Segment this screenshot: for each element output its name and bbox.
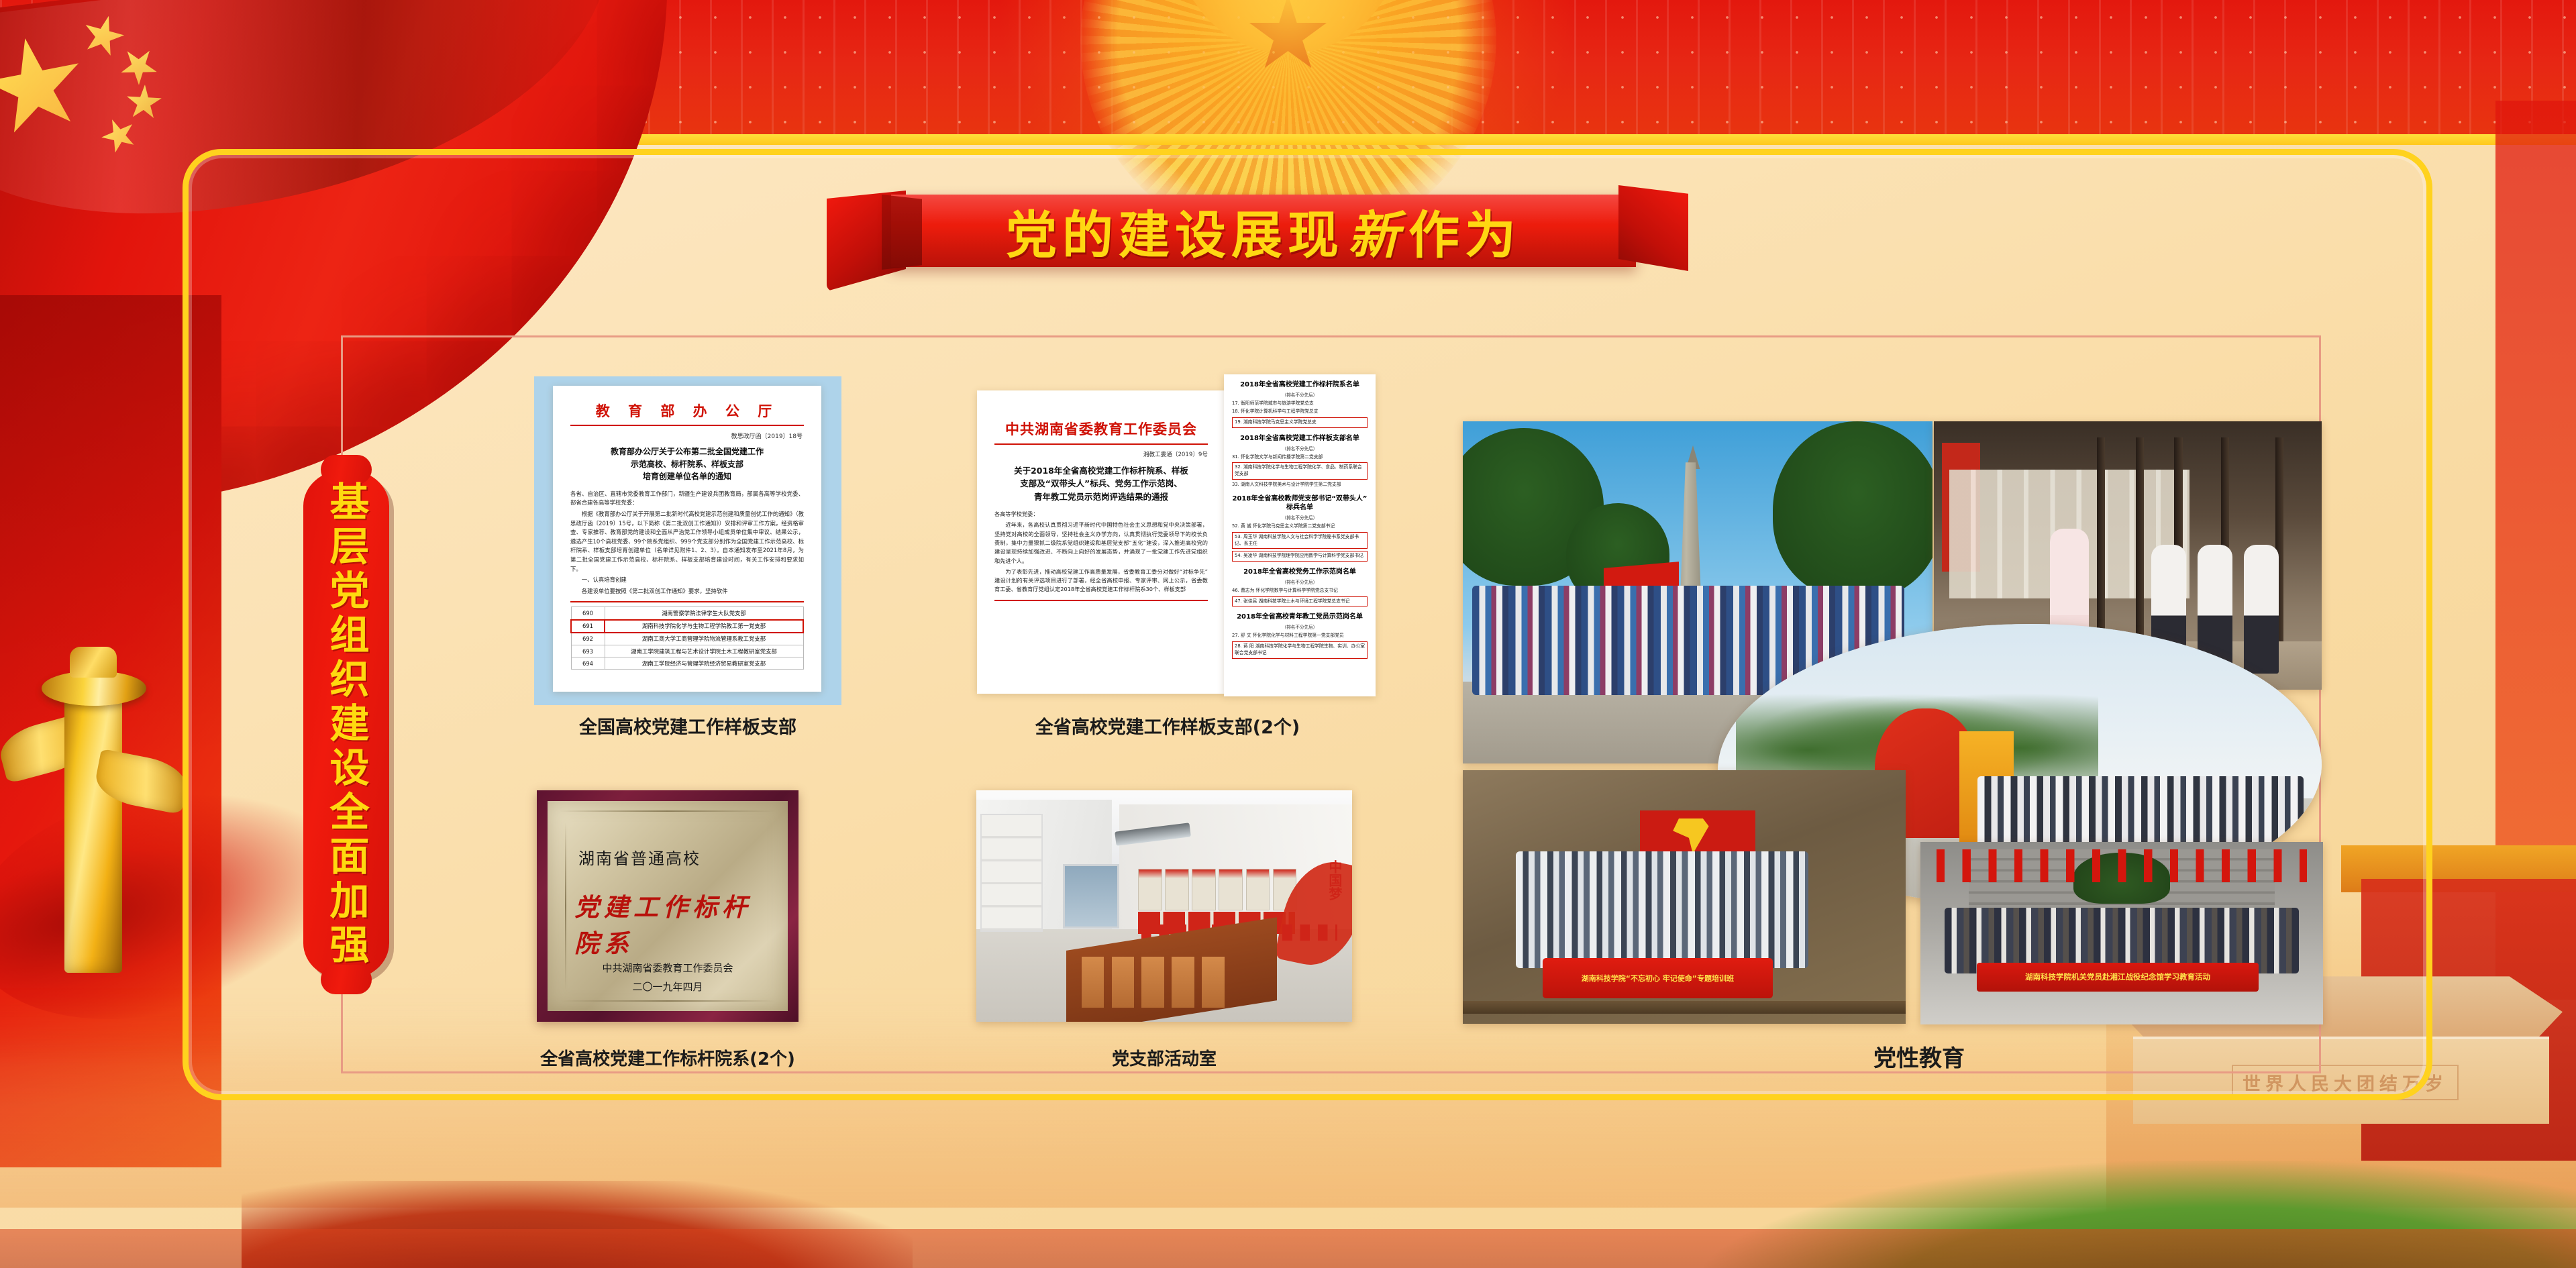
vertical-side-title-text: 基层党组织建设全面加强 xyxy=(327,481,366,968)
pagoda-tree xyxy=(1773,421,1933,599)
banner-title-part1: 党的建设展现 xyxy=(1006,194,1344,268)
document-2-body: 各高等学校党委： 近年来，各高校认真贯彻习近平新时代中国特色社会主义思想和党中央… xyxy=(994,510,1208,594)
list-item-highlighted: 28. 蒋 阳 湖南科技学院化学与生物工程学院生物、实训、办公室联合党支部书记 xyxy=(1232,641,1368,659)
memorial-flag-row xyxy=(1937,849,2307,882)
row-number: 693 xyxy=(571,645,605,657)
document-2-number: 湘教工委通〔2019〕9号 xyxy=(994,450,1208,458)
row-name: 湖南工学院经济与管理学院经济贸易教研室党支部 xyxy=(605,657,803,670)
row-name: 湖南工商大学工商管理学院物流管理系教工党支部 xyxy=(605,633,803,645)
document-card-2: 中共湖南省委教育工作委员会 湘教工委通〔2019〕9号 关于2018年全省高校党… xyxy=(953,374,1382,706)
room-chair xyxy=(1082,957,1104,1008)
row-number: 694 xyxy=(571,657,605,670)
huabiao-pillar-icon xyxy=(12,644,166,993)
document-2-rule xyxy=(994,443,1208,445)
cliff-railing xyxy=(1463,1001,1906,1014)
list-item: 27. 舒 文 怀化学院化学与材料工程学院第一党支部党员 xyxy=(1232,633,1368,639)
caption-document-1: 全国高校党建工作样板支部 xyxy=(544,712,832,739)
mural-portrait xyxy=(1165,869,1189,910)
caption-document-2: 全省高校党建工作样板支部(2个) xyxy=(953,712,1382,739)
cliff-group-banner: 湖南科技学院“不忘初心 牢记使命”专题培训班 xyxy=(1543,958,1773,998)
mural-portrait xyxy=(1192,869,1216,910)
plaque-face: 湖南省普通高校 党建工作标杆院系 中共湖南省委教育工作委员会 二〇一九年四月 xyxy=(548,801,788,1011)
plaque-line-1: 湖南省普通高校 xyxy=(578,845,701,869)
document-2-title: 关于2018年全省高校党建工作标杆院系、样板 支部及“双带头人”标兵、党务工作示… xyxy=(994,464,1208,503)
banner-title: 党的建设展现新作为 xyxy=(891,195,1636,267)
list-item: 17. 衡阳师范学院城市与旅游学院党总支 xyxy=(1232,401,1368,407)
red-star-icon xyxy=(1248,0,1329,75)
document-card-1: 教 育 部 办 公 厅 教思政厅函〔2019〕18号 教育部办公厅关于公布第二批… xyxy=(544,379,832,701)
caption-activity-room: 党支部活动室 xyxy=(976,1045,1352,1070)
document-1-title-line-1: 教育部办公厅关于公布第二批全国党建工作 xyxy=(570,445,804,458)
plaque-line-2: 党建工作标杆院系 xyxy=(574,887,776,959)
list-item-highlighted: 32. 湖南科技学院化学与生物工程学院化学、食品、制药系联合党支部 xyxy=(1232,462,1368,480)
caption-plaque: 全省高校党建工作标杆院系(2个) xyxy=(510,1045,825,1070)
room-notice-boards xyxy=(980,814,1043,933)
room-chair xyxy=(1202,957,1225,1008)
list-heading-5: 2018年全省高校青年教工党员示范岗名单 xyxy=(1231,613,1369,622)
list-subheading-3: （排名不分先后） xyxy=(1224,514,1376,521)
document-1-para-4: 各建设单位要按照《第二批双创工作通知》要求，坚持软件 xyxy=(570,587,804,596)
list-item-highlighted: 53. 周玉华 湖南科技学院人文与社会科学学院秘书系党支部书记、系主任 xyxy=(1232,532,1368,549)
poster-board: 世界人民大团结万岁 党的建设展现新作为 基层党组织建设全面加强 教 育 部 办 … xyxy=(0,0,2576,1268)
document-1-rule xyxy=(570,425,804,426)
table-row: 694 湖南工学院经济与管理学院经济贸易教研室党支部 xyxy=(571,657,803,670)
museum-column xyxy=(2136,437,2145,641)
list-item: 52. 黄 诚 怀化学院马克思主义学院第二党支部书记 xyxy=(1232,523,1368,530)
mural-portrait xyxy=(1219,869,1243,910)
photo-party-branch-activity-room: 中国梦 xyxy=(976,790,1352,1022)
document-1-title-line-3: 培育创建单位名单的通知 xyxy=(570,470,804,483)
banner-title-part2: 作为 xyxy=(1408,194,1521,268)
table-row: 693 湖南工学院建筑工程与艺术设计学院土木工程教研室党支部 xyxy=(571,645,803,657)
document-1-paper: 教 育 部 办 公 厅 教思政厅函〔2019〕18号 教育部办公厅关于公布第二批… xyxy=(553,386,821,692)
document-2-title-line-1: 关于2018年全省高校党建工作标杆院系、样板 xyxy=(994,464,1208,477)
list-subheading-5: （排名不分先后） xyxy=(1224,623,1376,630)
row-number: 690 xyxy=(571,607,605,620)
plaque-line-4: 二〇一九年四月 xyxy=(548,980,788,994)
row-number: 692 xyxy=(571,633,605,645)
document-2-para-1: 各高等学校党委： xyxy=(994,510,1208,519)
vertical-side-title: 基层党组织建设全面加强 xyxy=(303,470,389,980)
cliff-group-people xyxy=(1516,851,1808,968)
document-2-title-line-3: 青年教工党员示范岗评选结果的通报 xyxy=(994,490,1208,503)
document-1-para-2: 根据《教育部办公厅关于开展第二批新时代高校党建示范创建和质量创优工作的通知》（教… xyxy=(570,510,804,574)
row-number: 691 xyxy=(571,620,605,633)
banner-title-accent: 新 xyxy=(1344,194,1408,268)
room-chair xyxy=(1172,957,1194,1008)
bottom-red-strip xyxy=(0,1229,2576,1268)
table-row: 692 湖南工商大学工商管理学院物流管理系教工党支部 xyxy=(571,633,803,645)
table-row-highlighted: 691 湖南科技学院化学与生物工程学院教工第一党支部 xyxy=(571,620,803,633)
list-heading-2: 2018年全省高校党建工作样板支部名单 xyxy=(1231,434,1369,443)
list-item: 18. 怀化学院计算机科学与工程学院党总支 xyxy=(1232,409,1368,415)
list-subheading-2: （排名不分先后） xyxy=(1224,445,1376,452)
list-heading-3: 2018年全省高校教师党支部书记“双带头人”标兵名单 xyxy=(1231,494,1369,513)
list-item: 33. 湖南人文科技学院美术与设计学院学生第二党支部 xyxy=(1232,482,1368,488)
museum-column xyxy=(2097,437,2106,641)
mural-portrait xyxy=(1246,869,1270,910)
photo-training-class-group: 湖南科技学院“不忘初心 牢记使命”专题培训班 xyxy=(1463,770,1906,1024)
document-1-number: 教思政厅函〔2019〕18号 xyxy=(572,431,803,440)
list-item-highlighted: 54. 吴凌华 湖南科技学院理学院应用数学与计算科学党支部书记 xyxy=(1232,551,1368,562)
caption-party-spirit-education: 党性教育 xyxy=(1718,1040,2120,1073)
list-heading-4: 2018年全省高校党务工作示范岗名单 xyxy=(1231,568,1369,577)
main-banner: 党的建设展现新作为 xyxy=(824,180,1690,280)
document-1-name-table: 690 湖南警察学院法律学生大队党支部 691 湖南科技学院化学与生物工程学院教… xyxy=(570,606,804,670)
document-2-left-page: 中共湖南省委教育工作委员会 湘教工委通〔2019〕9号 关于2018年全省高校党… xyxy=(977,390,1225,694)
list-item-highlighted: 47. 张佳民 湖南科技学院土木与环境工程学院党总支书记 xyxy=(1232,596,1368,607)
document-2-para-2: 近年来，各高校认真贯彻习近平新时代中国特色社会主义思想和党中央决策部署，坚持党对… xyxy=(994,521,1208,565)
document-1-header: 教 育 部 办 公 厅 xyxy=(553,401,821,421)
document-2-organization: 中共湖南省委教育工作委员会 xyxy=(985,419,1217,439)
room-chair xyxy=(1141,957,1164,1008)
document-1-title-line-2: 示范高校、标杆院系、样板支部 xyxy=(570,458,804,471)
room-window xyxy=(1063,864,1119,929)
list-item: 31. 怀化学院文学与新闻传播学院第二党支部 xyxy=(1232,454,1368,461)
list-subheading-4: （排名不分先后） xyxy=(1224,578,1376,585)
document-1-rule-2 xyxy=(570,601,804,602)
document-1-para-1: 各省、自治区、直辖市党委教育工作部门，新疆生产建设兵团教育局，部属各高等学校党委… xyxy=(570,490,804,508)
memorial-group-banner: 湖南科技学院机关党员赴湘江战役纪念馆学习教育活动 xyxy=(1977,963,2259,992)
document-2-rule-2 xyxy=(994,600,1208,601)
row-name: 湖南工学院建筑工程与艺术设计学院土木工程教研室党支部 xyxy=(605,645,803,657)
list-item-highlighted: 19. 湖南科技学院马克思主义学院党总支 xyxy=(1232,417,1368,428)
plaque-line-3: 中共湖南省委教育工作委员会 xyxy=(548,961,788,975)
document-2-title-line-2: 支部及“双带头人”标兵、党务工作示范岗、 xyxy=(994,477,1208,490)
document-2-right-page: 2018年全省高校党建工作标杆院系名单 （排名不分先后） 17. 衡阳师范学院城… xyxy=(1224,374,1376,696)
list-heading-1: 2018年全省高校党建工作标杆院系名单 xyxy=(1231,380,1369,390)
row-name: 湖南警察学院法律学生大队党支部 xyxy=(605,607,803,620)
sunburst-core-icon xyxy=(1178,0,1399,54)
document-2-para-3: 为了表彰先进，推动高校党建工作高质量发展，省委教育工委分对做好“对标争先”建设计… xyxy=(994,568,1208,594)
photo-xiangjiang-memorial-group: 湖南科技学院机关党员赴湘江战役纪念馆学习教育活动 xyxy=(1920,842,2323,1024)
list-item: 46. 曹志为 怀化学院数学与计算科学学院党总支书记 xyxy=(1232,588,1368,594)
list-subheading-1: （排名不分先后） xyxy=(1224,391,1376,398)
mural-portrait xyxy=(1138,869,1162,910)
table-row: 690 湖南警察学院法律学生大队党支部 xyxy=(571,607,803,620)
row-name: 湖南科技学院化学与生物工程学院教工第一党支部 xyxy=(605,620,803,633)
room-chair xyxy=(1112,957,1135,1008)
award-plaque: 湖南省普通高校 党建工作标杆院系 中共湖南省委教育工作委员会 二〇一九年四月 xyxy=(537,790,798,1022)
document-1-title: 教育部办公厅关于公布第二批全国党建工作 示范高校、标杆院系、样板支部 培育创建单… xyxy=(570,445,804,483)
huabiao-shaft xyxy=(64,684,122,973)
huabiao-beast xyxy=(70,647,117,678)
document-1-body: 各省、自治区、直辖市党委教育工作部门，新疆生产建设兵团教育局，部属各高等学校党委… xyxy=(570,490,804,596)
document-1-para-3: 一、认真培育创建 xyxy=(570,576,804,585)
